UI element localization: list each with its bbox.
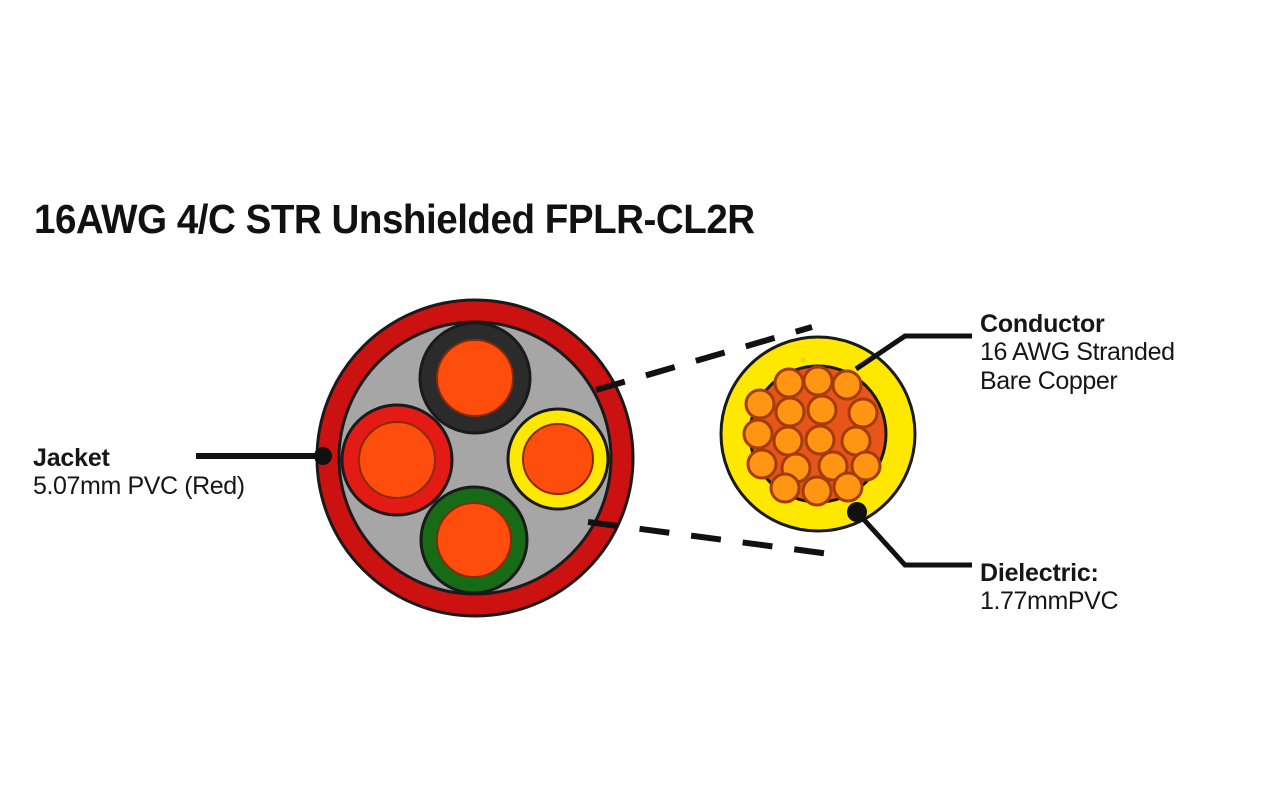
diagram-canvas: 16AWG 4/C STR Unshielded FPLR-CL2R Jacke… [0,0,1280,800]
red-conductor [342,405,452,515]
strand [806,426,834,454]
black-conductor-core [437,340,513,416]
callout-jacket-heading: Jacket [33,444,245,472]
enlarged-conductor-detail [721,337,915,531]
callout-dielectric: Dielectric: 1.77mmPVC [980,559,1118,616]
callout-conductor: Conductor 16 AWG Stranded Bare Copper [980,310,1175,396]
main-cable-cross-section [317,300,633,616]
yellow-conductor-core [523,424,593,494]
strand [849,399,877,427]
page-title: 16AWG 4/C STR Unshielded FPLR-CL2R [34,196,755,243]
strand [744,420,772,448]
black-conductor [420,323,530,433]
strand [776,398,804,426]
strand [748,450,776,478]
strand [803,477,831,505]
strand [771,474,799,502]
strand [746,390,774,418]
callout-dielectric-line1: 1.77mmPVC [980,587,1118,616]
callout-conductor-line1: 16 AWG Stranded [980,338,1175,367]
callout-conductor-heading: Conductor [980,310,1175,338]
strand [775,369,803,397]
dielectric-leader [847,502,972,565]
strand [833,371,861,399]
red-conductor-core [359,422,435,498]
strand [774,427,802,455]
green-conductor-core [437,503,511,577]
strand [834,473,862,501]
cable-cross-section-diagram [0,0,1280,800]
callout-jacket-line1: 5.07mm PVC (Red) [33,472,245,501]
callout-jacket: Jacket 5.07mm PVC (Red) [33,444,245,501]
yellow-conductor [508,409,608,509]
jacket-leader-dot [314,447,332,465]
dielectric-leader-dot [847,502,867,522]
strand [804,367,832,395]
callout-conductor-line2: Bare Copper [980,367,1175,396]
green-conductor [421,487,527,593]
strand [808,396,836,424]
callout-dielectric-heading: Dielectric: [980,559,1118,587]
dielectric-leader-line [857,512,972,565]
